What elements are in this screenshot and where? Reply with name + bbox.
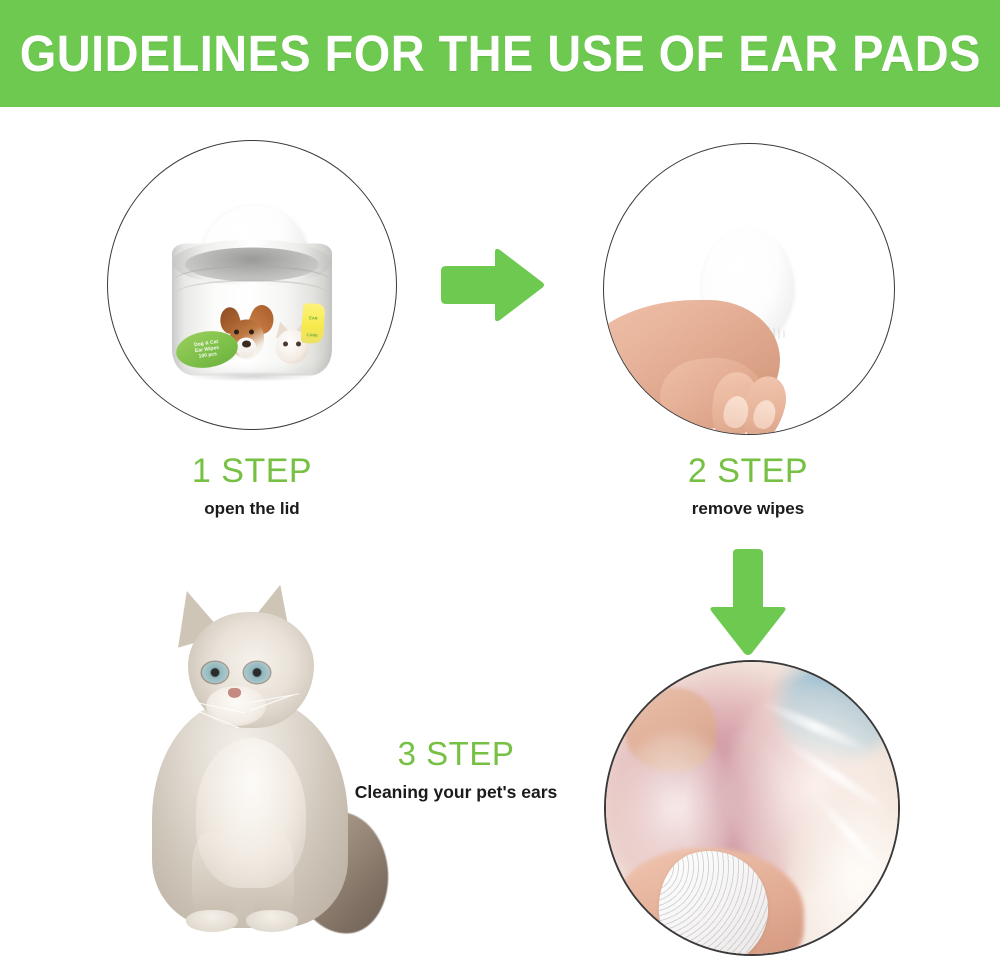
- cat-eye-right: [244, 662, 270, 683]
- arrow-down-icon: [706, 549, 790, 657]
- page-title: GUIDELINES FOR THE USE OF EAR PADS: [19, 24, 980, 83]
- step-1-title: 1 STEP: [152, 452, 352, 490]
- arrow-right-icon: [437, 247, 547, 323]
- step-1-subtitle: open the lid: [152, 497, 352, 521]
- dog-nose: [242, 340, 251, 347]
- label-green-badge-line-3: 100 pcs: [198, 351, 217, 359]
- step-3-image-circle: [604, 660, 900, 956]
- cat-eye-left: [202, 662, 228, 683]
- step-2-subtitle: remove wipes: [648, 497, 848, 521]
- label-cat-eye-right: [296, 341, 301, 346]
- step-3-caption: 3 STEP Cleaning your pet's ears: [330, 735, 582, 804]
- cat-nose: [228, 688, 241, 698]
- step-3-title: 3 STEP: [330, 735, 582, 773]
- label-yellow-badge: EAR CARE: [301, 303, 326, 344]
- step-2-title: 2 STEP: [648, 452, 848, 490]
- label-yellow-badge-line-1: EAR: [302, 315, 324, 322]
- ear-cleaning-photo: [606, 662, 898, 954]
- header-banner: GUIDELINES FOR THE USE OF EAR PADS: [0, 0, 1000, 107]
- hand-holding-wipe-illustration: [604, 144, 894, 434]
- dog-eye-right: [249, 329, 254, 334]
- jar-shadow: [188, 371, 316, 381]
- cat-paw-right: [246, 910, 298, 932]
- step-2-caption: 2 STEP remove wipes: [648, 452, 848, 521]
- step-3-subtitle: Cleaning your pet's ears: [330, 780, 582, 804]
- step-1-image-circle: Dog & Cat Ear Wipes 100 pcs EAR CARE: [107, 140, 397, 430]
- jar-product-label: Dog & Cat Ear Wipes 100 pcs EAR CARE: [174, 303, 330, 371]
- step-2-image-circle: [603, 143, 895, 435]
- dog-eye-left: [234, 329, 239, 334]
- step-1-caption: 1 STEP open the lid: [152, 452, 352, 521]
- label-cat-eye-left: [283, 341, 288, 346]
- product-jar-illustration: Dog & Cat Ear Wipes 100 pcs EAR CARE: [166, 203, 338, 378]
- label-yellow-badge-line-2: CARE: [301, 331, 323, 338]
- cat-paw-left: [186, 910, 238, 932]
- cat-chest-fur: [196, 738, 306, 888]
